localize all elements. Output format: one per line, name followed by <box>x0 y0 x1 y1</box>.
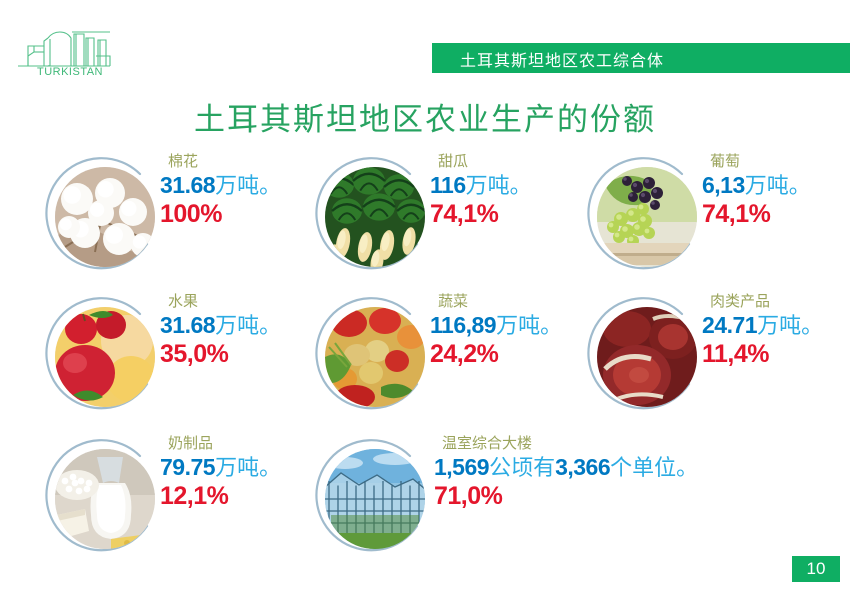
stat-amount: 31.68万吨。 <box>160 172 333 202</box>
stat-category-label: 奶制品 <box>168 434 333 453</box>
stat-amount: 1,569公顷有3,366个单位。 <box>434 454 828 484</box>
stat-percent: 12,1% <box>160 482 333 510</box>
page-title: 土耳其斯坦地区农业生产的份额 <box>0 94 850 139</box>
stat-badge <box>314 296 436 418</box>
stat-text-block: 棉花31.68万吨。100% <box>158 152 333 228</box>
stat-amount: 116,89万吨。 <box>430 312 603 342</box>
stat-text-block: 蔬菜116,89万吨。24,2% <box>428 292 603 368</box>
stat-item: 棉花31.68万吨。100% <box>40 152 320 282</box>
stat-percent: 71,0% <box>434 482 828 510</box>
stat-amount: 6,13万吨。 <box>702 172 850 202</box>
stat-category-label: 温室综合大楼 <box>442 434 828 453</box>
stat-amount-number-2: 3,366 <box>555 454 610 480</box>
stat-amount-number: 31.68 <box>160 172 215 198</box>
stat-item: 葡萄6,13万吨。74,1% <box>582 152 850 282</box>
stat-amount: 31.68万吨。 <box>160 312 333 342</box>
stat-badge <box>314 438 436 560</box>
header-banner-text: 土耳其斯坦地区农工综合体 <box>460 47 664 71</box>
stat-badge <box>586 156 708 278</box>
logo-wordmark: TÚRKISTAN <box>20 66 120 78</box>
mixed-vegetables-photo <box>325 307 425 407</box>
stat-amount-unit: 万吨。 <box>215 174 281 199</box>
stat-badge <box>586 296 708 418</box>
stat-text-block: 甜瓜116万吨。74,1% <box>428 152 603 228</box>
milk-cheese-dairy-photo <box>55 449 155 549</box>
stat-badge <box>44 296 166 418</box>
stat-percent: 11,4% <box>702 340 850 368</box>
stat-amount-unit: 公顷有 <box>489 456 555 481</box>
stat-amount: 24.71万吨。 <box>702 312 850 342</box>
stat-amount-number: 6,13 <box>702 172 745 198</box>
stat-text-block: 葡萄6,13万吨。74,1% <box>700 152 850 228</box>
greenhouse-complex-photo <box>325 449 425 549</box>
stat-category-label: 肉类产品 <box>710 292 850 311</box>
stat-badge <box>44 156 166 278</box>
stat-amount-unit: 万吨。 <box>215 314 281 339</box>
slide-root: TÚRKISTAN 土耳其斯坦地区农工综合体 土耳其斯坦地区农业生产的份额 棉花… <box>0 0 850 600</box>
header-banner: 土耳其斯坦地区农工综合体 <box>432 43 850 73</box>
stat-amount-unit: 万吨。 <box>466 174 532 199</box>
stat-amount-number: 116 <box>430 172 466 198</box>
stat-percent: 24,2% <box>430 340 603 368</box>
stat-category-label: 甜瓜 <box>438 152 603 171</box>
stat-text-block: 水果31.68万吨。35,0% <box>158 292 333 368</box>
stat-percent: 35,0% <box>160 340 333 368</box>
stat-amount-number: 116,89 <box>430 312 496 338</box>
stat-item: 水果31.68万吨。35,0% <box>40 292 320 422</box>
stat-amount-number: 24.71 <box>702 312 757 338</box>
raw-beef-meat-photo <box>597 307 697 407</box>
stat-amount-unit: 万吨。 <box>745 174 811 199</box>
stat-percent: 74,1% <box>702 200 850 228</box>
stat-category-label: 葡萄 <box>710 152 850 171</box>
stat-text-block: 奶制品79.75万吨。12,1% <box>158 434 333 510</box>
stat-item: 肉类产品24.71万吨。11,4% <box>582 292 850 422</box>
melons-watermelons-photo <box>325 167 425 267</box>
page-number-badge: 10 <box>792 556 840 582</box>
stat-item: 蔬菜116,89万吨。24,2% <box>310 292 590 422</box>
stat-item: 奶制品79.75万吨。12,1% <box>40 434 320 564</box>
grapes-in-crate-photo <box>597 167 697 267</box>
slide-header: TÚRKISTAN 土耳其斯坦地区农工综合体 <box>0 0 850 90</box>
statistics-grid: 棉花31.68万吨。100% 甜瓜116万吨。74,1% 葡萄6,13万吨。74… <box>0 152 850 572</box>
stat-badge <box>44 438 166 560</box>
stat-badge <box>314 156 436 278</box>
stat-amount-unit: 万吨。 <box>496 314 562 339</box>
stat-percent: 74,1% <box>430 200 603 228</box>
stat-item: 温室综合大楼1,569公顷有3,366个单位。71,0% <box>310 434 790 564</box>
stat-amount: 116万吨。 <box>430 172 603 202</box>
apples-peaches-photo <box>55 307 155 407</box>
stat-amount-unit-2: 个单位。 <box>610 456 698 481</box>
stat-category-label: 棉花 <box>168 152 333 171</box>
stat-category-label: 蔬菜 <box>438 292 603 311</box>
stat-amount-number: 1,569 <box>434 454 489 480</box>
turkistan-logo: TÚRKISTAN <box>14 26 122 84</box>
stat-item: 甜瓜116万吨。74,1% <box>310 152 590 282</box>
stat-amount-number: 31.68 <box>160 312 215 338</box>
stat-text-block: 肉类产品24.71万吨。11,4% <box>700 292 850 368</box>
stat-category-label: 水果 <box>168 292 333 311</box>
stat-amount-number: 79.75 <box>160 454 215 480</box>
stat-percent: 100% <box>160 200 333 228</box>
stat-amount-unit: 万吨。 <box>215 456 281 481</box>
stat-text-block: 温室综合大楼1,569公顷有3,366个单位。71,0% <box>428 434 828 510</box>
cotton-bolls-photo <box>55 167 155 267</box>
stat-amount: 79.75万吨。 <box>160 454 333 484</box>
stat-amount-unit: 万吨。 <box>757 314 823 339</box>
